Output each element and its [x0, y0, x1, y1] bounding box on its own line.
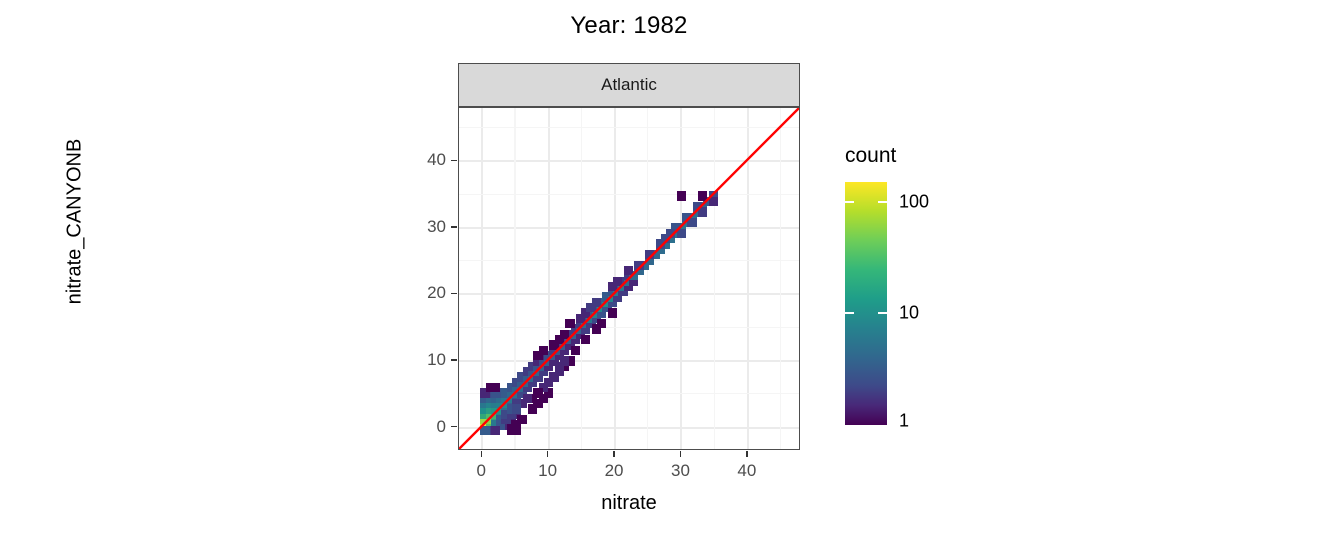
y-tick-mark — [451, 160, 457, 161]
x-tick-mark — [746, 451, 747, 457]
x-tick-label: 10 — [538, 461, 557, 481]
legend-tick-label: 100 — [899, 191, 929, 212]
legend-colorbar — [845, 182, 887, 425]
y-tick-mark — [451, 293, 457, 294]
legend-tick-mark — [878, 201, 887, 203]
page-title: Year: 1982 — [458, 12, 800, 40]
x-tick-mark — [547, 451, 548, 457]
x-tick-label: 30 — [671, 461, 690, 481]
y-tick-label: 20 — [412, 283, 446, 303]
y-tick-label: 30 — [412, 217, 446, 237]
y-tick-label: 10 — [412, 350, 446, 370]
y-tick-label: 40 — [412, 150, 446, 170]
x-tick-label: 40 — [737, 461, 756, 481]
chart-canvas: Year: 1982 Atlantic 010203040010203040 n… — [0, 0, 1344, 537]
x-tick-mark — [481, 451, 482, 457]
legend-tick-label: 10 — [899, 303, 919, 324]
legend-tick-mark — [845, 201, 854, 203]
reference-line — [459, 108, 799, 449]
legend-tick-mark — [845, 312, 854, 314]
x-tick-mark — [613, 451, 614, 457]
x-tick-label: 20 — [605, 461, 624, 481]
y-tick-mark — [451, 426, 457, 427]
y-tick-label: 0 — [412, 417, 446, 437]
y-axis-title: nitrate_CANYONB — [64, 57, 87, 387]
y-tick-mark — [451, 226, 457, 227]
legend-title: count — [845, 144, 896, 168]
legend-tick-mark — [878, 312, 887, 314]
plot-panel — [458, 107, 800, 450]
x-tick-mark — [680, 451, 681, 457]
facet-strip: Atlantic — [458, 63, 800, 107]
legend-tick-label: 1 — [899, 411, 909, 432]
x-axis-title: nitrate — [458, 492, 800, 515]
x-tick-label: 0 — [477, 461, 486, 481]
y-tick-mark — [451, 359, 457, 360]
facet-strip-label: Atlantic — [601, 75, 657, 95]
